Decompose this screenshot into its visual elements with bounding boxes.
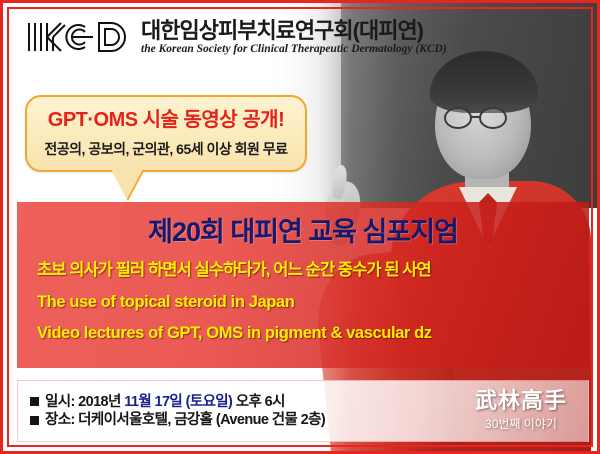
- promo-subline: 전공의, 공보의, 군의관, 65세 이상 회원 무료: [41, 139, 291, 159]
- symposium-title: 제20회 대피연 교육 심포지엄: [17, 216, 589, 248]
- topic-item: Video lectures of GPT, OMS in pigment & …: [37, 325, 589, 342]
- event-date-label: 일시:: [45, 395, 75, 410]
- event-date-prefix: 2018년: [78, 395, 121, 410]
- kcd-logo-icon: [25, 19, 129, 55]
- event-venue-value: 더케이서울호텔, 금강홀 (Avenue 건물 2층): [78, 413, 325, 428]
- organization-name-kr: 대한임상피부치료연구회(대피연): [141, 19, 447, 42]
- event-date-line: 일시: 2018년 11월 17일 (토요일) 오후 6시: [30, 395, 462, 410]
- series-seal-subtitle: 30번째 이야기: [462, 415, 580, 432]
- poster: 대한임상피부치료연구회(대피연) the Korean Society for …: [0, 0, 600, 454]
- event-venue-line: 장소: 더케이서울호텔, 금강홀 (Avenue 건물 2층): [30, 413, 462, 428]
- event-details-band: 일시: 2018년 11월 17일 (토요일) 오후 6시 장소: 더케이서울호…: [17, 380, 589, 442]
- main-content-band: 제20회 대피연 교육 심포지엄 초보 의사가 필러 하면서 실수하다가, 어느…: [17, 202, 589, 368]
- promo-callout: GPT·OMS 시술 동영상 공개! 전공의, 공보의, 군의관, 65세 이상…: [25, 95, 307, 172]
- poster-header: 대한임상피부치료연구회(대피연) the Korean Society for …: [9, 9, 597, 65]
- square-bullet-icon: [30, 416, 39, 425]
- square-bullet-icon: [30, 397, 39, 406]
- series-seal: 武林高手 30번째 이야기: [462, 390, 580, 432]
- topic-item: 초보 의사가 필러 하면서 실수하다가, 어느 순간 중수가 된 사연: [37, 262, 589, 279]
- organization-name-block: 대한임상피부치료연구회(대피연) the Korean Society for …: [141, 19, 447, 55]
- organization-name-en: the Korean Society for Clinical Therapeu…: [141, 43, 447, 55]
- event-date-highlight: 11월 17일 (토요일): [124, 395, 232, 410]
- topic-item: The use of topical steroid in Japan: [37, 294, 589, 311]
- event-details-lines: 일시: 2018년 11월 17일 (토요일) 오후 6시 장소: 더케이서울호…: [18, 391, 462, 432]
- promo-callout-tail: [111, 169, 143, 199]
- promo-headline: GPT·OMS 시술 동영상 공개!: [41, 109, 291, 132]
- series-seal-title: 武林高手: [462, 390, 580, 413]
- promo-callout-bubble: GPT·OMS 시술 동영상 공개! 전공의, 공보의, 군의관, 65세 이상…: [25, 95, 307, 172]
- event-venue-label: 장소:: [45, 413, 75, 428]
- event-date-suffix: 오후 6시: [236, 395, 285, 410]
- topic-list: 초보 의사가 필러 하면서 실수하다가, 어느 순간 중수가 된 사연 The …: [17, 262, 589, 342]
